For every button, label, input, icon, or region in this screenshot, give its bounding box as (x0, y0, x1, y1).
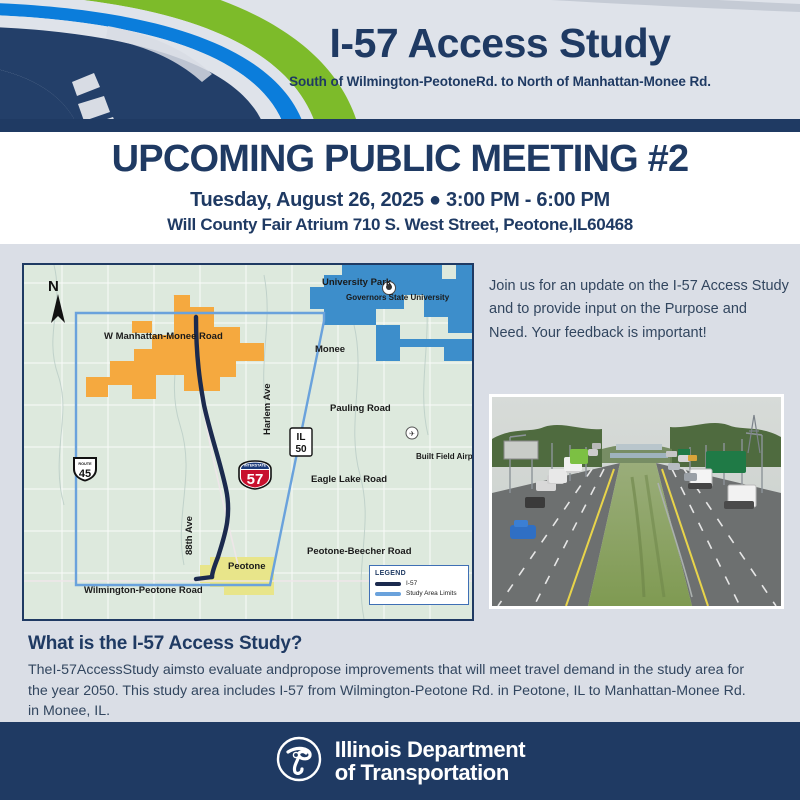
svg-text:50: 50 (295, 444, 307, 455)
state-route-shield-icon: IL50 (289, 427, 313, 462)
legend-label-study-area: Study Area Limits (406, 590, 457, 597)
header-banner: I-57 Access Study South of Wilmington-Pe… (0, 0, 800, 132)
legend-label-i57: I-57 (406, 580, 417, 587)
legend-item-i57: I-57 (375, 580, 463, 587)
map-label: W Manhattan-Monee Road (104, 331, 223, 342)
meeting-datetime: Tuesday, August 26, 2025 ● 3:00 PM - 6:0… (0, 189, 800, 212)
page-title: I-57 Access Study (200, 22, 800, 65)
compass-needle-icon (50, 294, 66, 324)
idot-logo-text: Illinois Department of Transportation (335, 738, 525, 784)
section-heading: What is the I-57 Access Study? (28, 633, 302, 655)
svg-text:57: 57 (247, 471, 264, 488)
map-label: Pauling Road (330, 403, 391, 414)
header-text-block: I-57 Access Study South of Wilmington-Pe… (200, 22, 800, 89)
map-label: Peotone-Beecher Road (307, 546, 412, 557)
map-label: Governors State University (346, 293, 449, 302)
meeting-location: Will County Fair Atrium 710 S. West Stre… (0, 215, 800, 235)
svg-text:45: 45 (79, 468, 91, 480)
legend-item-study-area: Study Area Limits (375, 590, 463, 597)
footer-bar: Illinois Department of Transportation (0, 722, 800, 800)
map-label: Built Field Airport (416, 452, 474, 461)
compass-north-label: N (48, 278, 59, 295)
i57-highway-photo (489, 394, 784, 609)
idot-line-1: Illinois Department (335, 737, 525, 762)
svg-text:ROUTE: ROUTE (78, 462, 92, 466)
map-label: Monee (315, 344, 345, 355)
map-label: 88th Ave (184, 516, 195, 555)
legend-swatch-study-area (375, 592, 401, 596)
airport-marker: ✈ (406, 427, 418, 439)
idot-logo-icon (275, 735, 323, 788)
svg-text:✈: ✈ (409, 431, 415, 438)
map-label: Eagle Lake Road (311, 474, 387, 485)
legend-swatch-i57 (375, 582, 401, 586)
map-label: Harlem Ave (262, 383, 273, 435)
map-label: Wilmington-Peotone Road (84, 585, 203, 596)
meeting-banner: UPCOMING PUBLIC MEETING #2 Tuesday, Augu… (0, 132, 800, 244)
study-area-map[interactable]: ✈ N University ParkGovernors State Unive… (22, 263, 474, 621)
svg-text:IL: IL (297, 432, 306, 443)
legend-title: LEGEND (375, 570, 463, 577)
us-route-shield-icon: ROUTE45 (70, 455, 100, 488)
map-label: Peotone (228, 561, 265, 572)
header-navy-rule (0, 119, 800, 132)
section-body: TheI-57AccessStudy aimsto evaluate andpr… (28, 660, 758, 722)
map-legend: LEGEND I-57 Study Area Limits (369, 565, 469, 605)
poster-root: I-57 Access Study South of Wilmington-Pe… (0, 0, 800, 800)
map-label: University Park (322, 277, 391, 288)
svg-text:INTERSTATE: INTERSTATE (244, 464, 267, 468)
interstate-shield-icon: INTERSTATE57 (237, 460, 273, 495)
page-subtitle: South of Wilmington-PeotoneRd. to North … (200, 74, 800, 89)
intro-paragraph: Join us for an update on the I-57 Access… (489, 275, 789, 345)
meeting-title: UPCOMING PUBLIC MEETING #2 (0, 138, 800, 182)
idot-line-2: of Transportation (335, 760, 509, 785)
